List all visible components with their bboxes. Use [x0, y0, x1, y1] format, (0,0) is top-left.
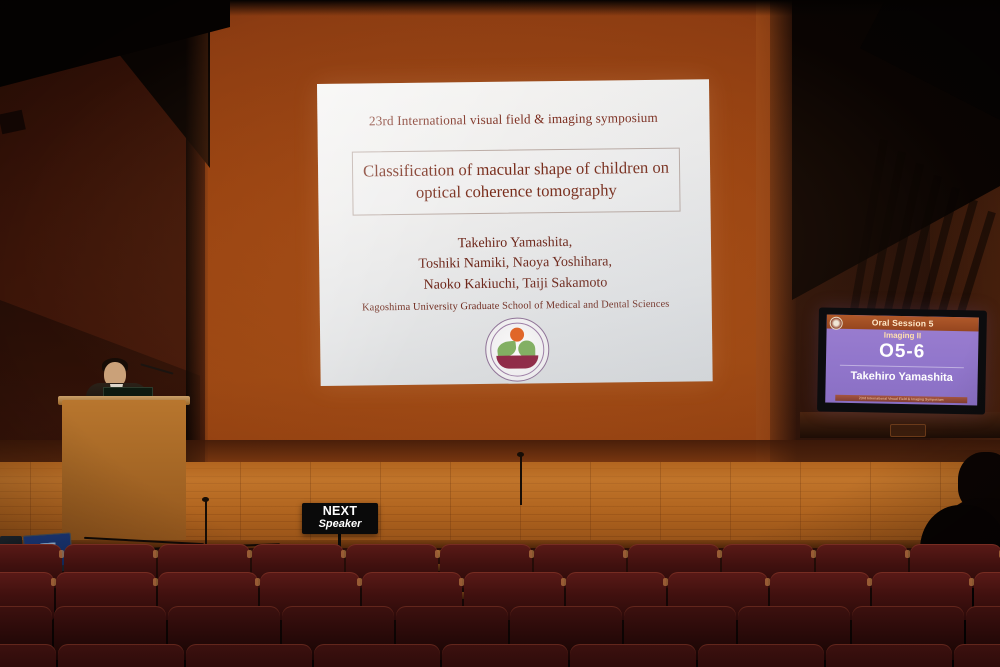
right-wall-warm-edge	[756, 0, 796, 470]
seat-armrest-highlight	[811, 550, 816, 558]
floor-plank-vertical	[870, 462, 871, 552]
next-speaker-line-2: Speaker	[319, 518, 362, 532]
session-monitor-header-bar: Oral Session 5	[827, 315, 979, 332]
auditorium-seat	[954, 644, 1000, 667]
auditorium-seating-area	[0, 548, 1000, 667]
seat-armrest-highlight	[717, 550, 722, 558]
seat-armrest-highlight	[153, 578, 158, 586]
floor-plank-vertical	[590, 462, 591, 552]
slide-title-line-2: optical coherence tomography	[359, 179, 673, 205]
slide-author-line-3: Naoko Kakiuchi, Taiji Sakamoto	[319, 272, 711, 297]
slide-authors: Takehiro Yamashita, Toshiki Namiki, Naoy…	[319, 231, 712, 297]
session-monitor-speaker-name: Takehiro Yamashita	[826, 370, 978, 385]
next-speaker-line-1: NEXT	[323, 505, 358, 518]
seat-armrest-highlight	[255, 578, 260, 586]
presentation-slide: 23rd International visual field & imagin…	[317, 79, 713, 386]
emblem-sun-icon	[510, 327, 524, 341]
stage-mic-head-left	[202, 497, 209, 502]
seat-armrest-highlight	[623, 550, 628, 558]
session-monitor-footer-bar: 23rd International Visual Field & Imagin…	[835, 395, 967, 404]
university-emblem-icon	[485, 317, 550, 382]
session-monitor-header-text: Oral Session 5	[872, 317, 934, 328]
stage-mic-head-center	[517, 452, 524, 457]
floor-plank-vertical	[240, 462, 241, 552]
seat-armrest-highlight	[867, 578, 872, 586]
podium	[62, 400, 186, 540]
auditorium-seat	[698, 644, 824, 667]
stage-mic-stand-left	[205, 500, 207, 544]
auditorium-seat	[58, 644, 184, 667]
seat-armrest-highlight	[247, 550, 252, 558]
session-monitor-footer-text: 23rd International Visual Field & Imagin…	[859, 396, 944, 402]
session-monitor-screen: Oral Session 5 Imaging II O5-6 Takehiro …	[825, 315, 979, 406]
monitor-mount	[890, 424, 926, 437]
session-monitor-logo-icon	[830, 316, 843, 329]
auditorium-seat	[0, 644, 56, 667]
slide-symposium-kicker: 23rd International visual field & imagin…	[317, 109, 709, 130]
projection-screen: 23rd International visual field & imagin…	[317, 79, 713, 386]
slide-affiliation: Kagoshima University Graduate School of …	[320, 298, 712, 314]
auditorium-seat	[442, 644, 568, 667]
floor-plank-vertical	[800, 462, 801, 552]
session-monitor-divider	[840, 365, 964, 368]
auditorium-seat	[186, 644, 312, 667]
session-monitor-code: O5-6	[826, 340, 978, 365]
top-dark-band	[0, 0, 1000, 16]
seat-armrest-highlight	[459, 578, 464, 586]
slide-title-line-1: Classification of macular shape of child…	[359, 157, 673, 183]
stage-mic-stand-center	[520, 455, 522, 505]
floor-plank-vertical	[450, 462, 451, 552]
seat-armrest-highlight	[529, 550, 534, 558]
seat-armrest-highlight	[341, 550, 346, 558]
floor-plank-vertical	[380, 462, 381, 552]
auditorium-seat	[826, 644, 952, 667]
auditorium-seat	[314, 644, 440, 667]
floor-plank-vertical	[660, 462, 661, 552]
slide-title-box: Classification of macular shape of child…	[352, 148, 681, 216]
floor-plank-vertical	[730, 462, 731, 552]
seat-armrest-highlight	[59, 550, 64, 558]
session-monitor: Oral Session 5 Imaging II O5-6 Takehiro …	[817, 307, 987, 414]
seat-armrest-highlight	[435, 550, 440, 558]
seat-armrest-highlight	[357, 578, 362, 586]
seat-armrest-highlight	[905, 550, 910, 558]
seat-armrest-highlight	[765, 578, 770, 586]
next-speaker-sign: NEXT Speaker	[302, 503, 378, 534]
seat-armrest-highlight	[561, 578, 566, 586]
seat-armrest-highlight	[153, 550, 158, 558]
seat-armrest-highlight	[969, 578, 974, 586]
seat-armrest-highlight	[663, 578, 668, 586]
conference-hall-photo: 23rd International visual field & imagin…	[0, 0, 1000, 667]
auditorium-seat	[570, 644, 696, 667]
seat-armrest-highlight	[51, 578, 56, 586]
